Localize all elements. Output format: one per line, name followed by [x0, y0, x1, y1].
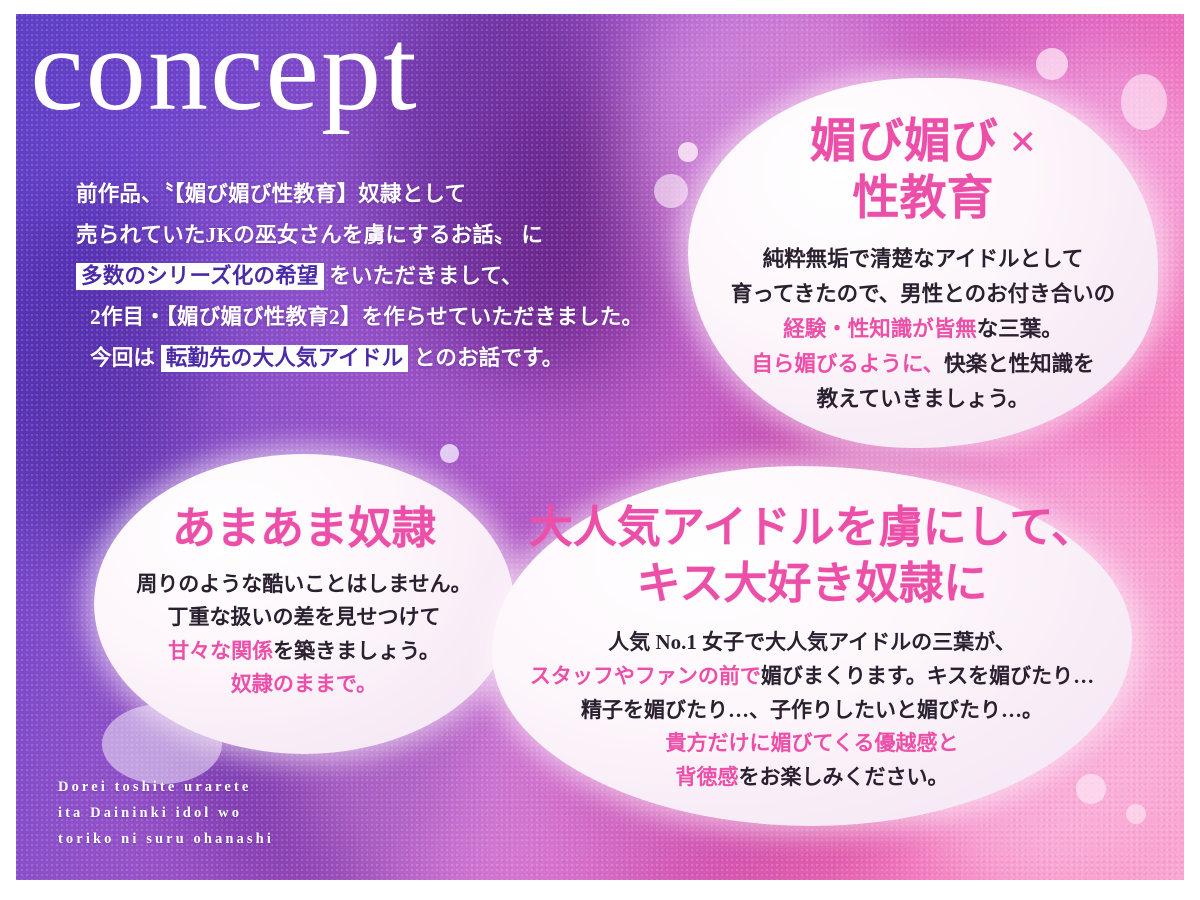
intro-line: 多数のシリーズ化の希望 をいただきまして、	[76, 256, 716, 297]
romaji-line: Dorei toshite urarete	[58, 774, 274, 800]
bubble-plain-text: 教えていきましょう。	[817, 387, 1030, 411]
bubble-body-line: 人気 No.1 女子で大人気アイドルの三葉が、	[492, 626, 1132, 660]
bubble-plain-text: をお楽しみください。	[739, 765, 949, 789]
bubble-plain-text: を築きましょう。	[273, 639, 440, 663]
intro-text: をいただきまして、	[324, 264, 523, 288]
intro-line: 今回は 転勤先の大人気アイドル とのお話です。	[76, 338, 716, 379]
page-title: concept	[30, 14, 419, 132]
bubble-body-line: 奴隷のままで。	[94, 668, 514, 702]
intro-line: 売られていたJKの巫女さんを虜にするお話〟 に	[76, 215, 716, 256]
decor-dot-1	[1036, 48, 1068, 80]
bubble-body-line: 背徳感をお楽しみください。	[492, 761, 1132, 795]
bubble-accent-text: 自ら媚びるように、	[751, 352, 944, 376]
bubble-accent-text: スタッフやファンの前で	[530, 664, 761, 688]
intro-text: 売られていたJKの巫女さんを虜にするお話〟 に	[76, 223, 543, 247]
bubble-plain-text: 育ってきたので、男性とのお付き合いの	[731, 282, 1115, 306]
bubble-title-line: キス大好き奴隷に	[492, 556, 1132, 612]
concept-promo-page: concept 前作品、〝【媚び媚び性教育】奴隷として売られていたJKの巫女さん…	[0, 0, 1200, 900]
bubble-title-line: 大人気アイドルを虜にして、	[492, 500, 1132, 556]
intro-text: 今回は	[90, 346, 161, 370]
bubble-body-line: 自ら媚びるように、快楽と性知識を	[688, 347, 1158, 382]
intro-text: 前作品、〝【媚び媚び性教育】奴隷として	[76, 182, 466, 206]
bubble-plain-text: 快楽と性知識を	[944, 352, 1095, 376]
romaji-line: ita Daininki idol wo	[58, 800, 274, 826]
bubble-kobikobi-seikyouiku: 媚び媚び ×性教育 純粋無垢で清楚なアイドルとして育ってきたので、男性とのお付き…	[688, 78, 1158, 448]
bubble-body-line: 周りのような酷いことはしません。	[94, 568, 514, 602]
intro-highlight: 多数のシリーズ化の希望	[76, 263, 324, 290]
bubble-plain-text: な三葉。	[977, 317, 1063, 341]
bubble-body: 周りのような酷いことはしません。丁重な扱いの差を見せつけて甘々な関係を築きましょ…	[94, 568, 514, 702]
bubble-body-line: 貴方だけに媚びてくる優越感と	[492, 727, 1132, 761]
bubble-body: 純粋無垢で清楚なアイドルとして育ってきたので、男性とのお付き合いの経験・性知識が…	[688, 242, 1158, 416]
bubble-accent-text: 背徳感	[676, 765, 739, 789]
bubble-title-line: 媚び媚び ×	[688, 114, 1158, 171]
bubble-plain-text: 人気 No.1 女子で大人気アイドルの三葉が、	[608, 630, 1015, 654]
bubble-body-line: 育ってきたので、男性とのお付き合いの	[688, 277, 1158, 312]
bubble-title-line: あまあま奴隷	[94, 502, 514, 556]
bubble-plain-text: 精子を媚びたり…、子作りしたいと媚びたり…。	[581, 698, 1043, 722]
bubble-body-line: 教えていきましょう。	[688, 382, 1158, 417]
romaji-line: toriko ni suru ohanashi	[58, 826, 274, 852]
artwork-canvas: concept 前作品、〝【媚び媚び性教育】奴隷として売られていたJKの巫女さん…	[16, 14, 1184, 880]
bubble-accent-text: 貴方だけに媚びてくる優越感と	[666, 731, 959, 755]
bubble-body-line: 純粋無垢で清楚なアイドルとして	[688, 242, 1158, 277]
bubble-accent-text: 甘々な関係	[168, 639, 273, 663]
intro-text: とのお話です。	[408, 346, 563, 370]
bubble-body-line: 甘々な関係を築きましょう。	[94, 635, 514, 669]
bubble-body-line: スタッフやファンの前で媚びまくります。キスを媚びたり…	[492, 660, 1132, 694]
intro-line: 2作目・【媚び媚び性教育2】を作らせていただきました。	[76, 297, 716, 338]
bubble-title: あまあま奴隷	[94, 502, 514, 556]
intro-paragraph: 前作品、〝【媚び媚び性教育】奴隷として売られていたJKの巫女さんを虜にするお話〟…	[76, 174, 716, 379]
bubble-accent-text: 経験・性知識が皆無	[783, 317, 977, 341]
bubble-body-line: 丁重な扱いの差を見せつけて	[94, 601, 514, 635]
bubble-content: 媚び媚び ×性教育 純粋無垢で清楚なアイドルとして育ってきたので、男性とのお付き…	[688, 110, 1158, 417]
bubble-accent-text: 奴隷のままで。	[231, 672, 377, 696]
intro-highlight: 転勤先の大人気アイドル	[161, 345, 409, 372]
romaji-subtitle: Dorei toshite urareteita Daininki idol w…	[58, 774, 274, 852]
bubble-content: あまあま奴隷 周りのような酷いことはしません。丁重な扱いの差を見せつけて甘々な関…	[94, 506, 514, 702]
bubble-body-line: 精子を媚びたり…、子作りしたいと媚びたり…。	[492, 694, 1132, 728]
bubble-amaama-dorei: あまあま奴隷 周りのような酷いことはしません。丁重な扱いの差を見せつけて甘々な関…	[94, 454, 514, 754]
bubble-content: 大人気アイドルを虜にして、キス大好き奴隷に 人気 No.1 女子で大人気アイドル…	[492, 498, 1132, 795]
bubble-plain-text: 純粋無垢で清楚なアイドルとして	[763, 247, 1084, 271]
bubble-plain-text: 丁重な扱いの差を見せつけて	[168, 605, 441, 629]
bubble-body-line: 経験・性知識が皆無な三葉。	[688, 312, 1158, 347]
bubble-title: 大人気アイドルを虜にして、キス大好き奴隷に	[492, 500, 1132, 613]
bubble-idol-toriko: 大人気アイドルを虜にして、キス大好き奴隷に 人気 No.1 女子で大人気アイドル…	[492, 466, 1132, 826]
bubble-title-line: 性教育	[688, 171, 1158, 228]
bubble-body: 人気 No.1 女子で大人気アイドルの三葉が、スタッフやファンの前で媚びまくりま…	[492, 626, 1132, 794]
intro-line: 前作品、〝【媚び媚び性教育】奴隷として	[76, 174, 716, 215]
intro-text: 2作目・【媚び媚び性教育2】を作らせていただきました。	[90, 305, 643, 329]
bubble-title: 媚び媚び ×性教育	[688, 114, 1158, 229]
bubble-plain-text: 周りのような酷いことはしません。	[136, 572, 471, 596]
bubble-plain-text: 媚びまくります。キスを媚びたり…	[761, 664, 1094, 688]
